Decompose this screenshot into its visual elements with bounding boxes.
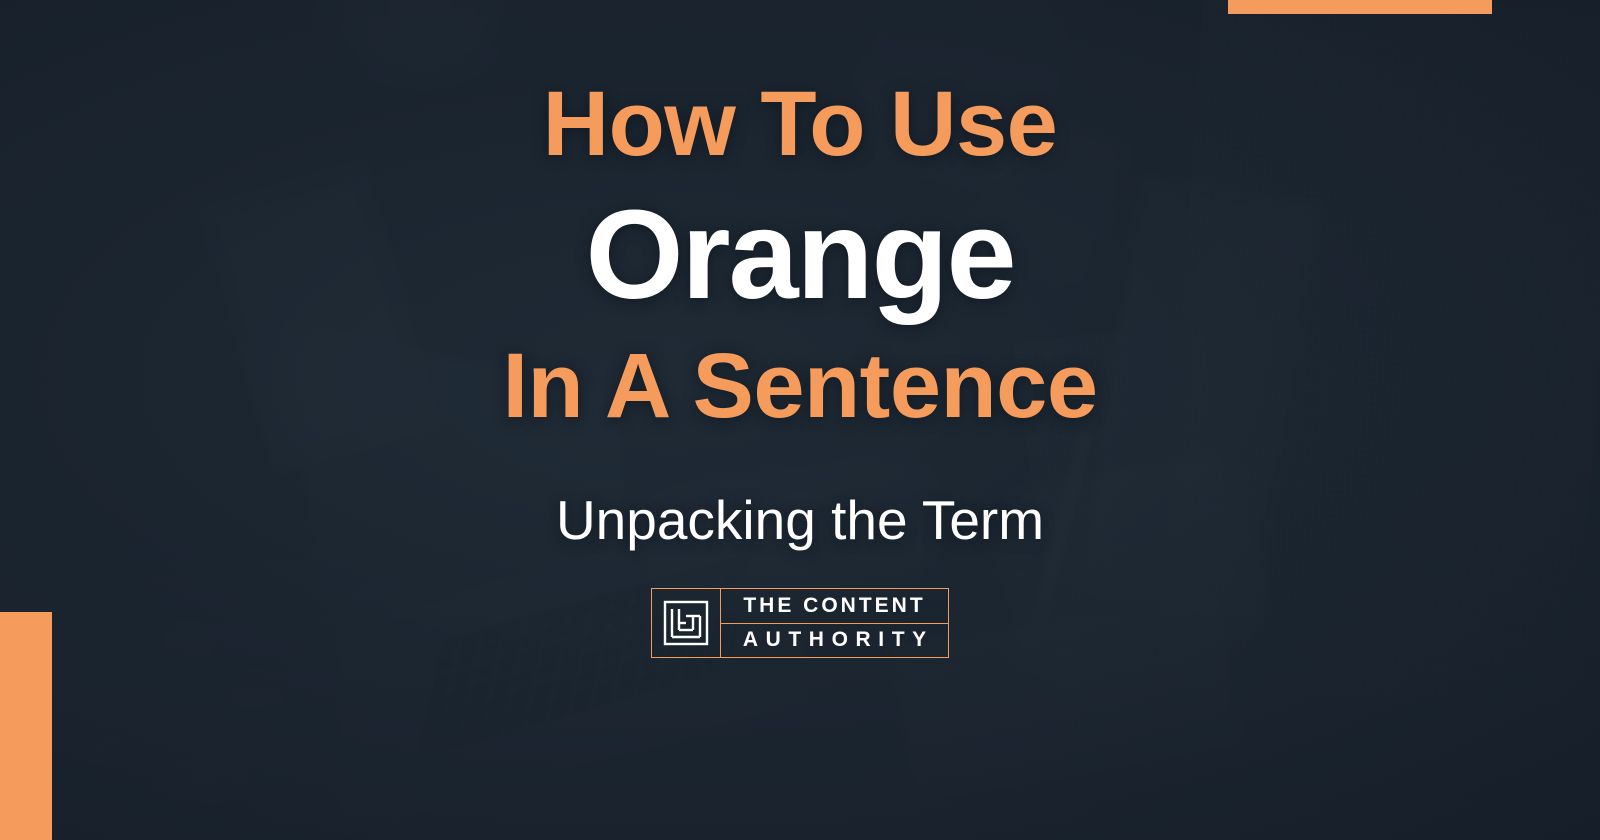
hero-title-line-3: In A Sentence bbox=[502, 340, 1097, 432]
hero-banner: How To Use Orange In A Sentence Unpackin… bbox=[0, 0, 1600, 840]
hero-title-line-2-keyword: Orange bbox=[585, 192, 1014, 318]
hero-title-line-1: How To Use bbox=[543, 78, 1058, 170]
brand-logo: THE CONTENT AUTHORITY bbox=[651, 588, 949, 658]
hero-content: How To Use Orange In A Sentence Unpackin… bbox=[0, 0, 1600, 840]
maze-square-icon bbox=[652, 589, 721, 657]
brand-logo-wordmark: THE CONTENT AUTHORITY bbox=[721, 589, 948, 657]
brand-logo-line-1: THE CONTENT bbox=[721, 589, 948, 624]
brand-logo-line-2: AUTHORITY bbox=[721, 624, 948, 658]
hero-subtitle: Unpacking the Term bbox=[556, 488, 1044, 552]
